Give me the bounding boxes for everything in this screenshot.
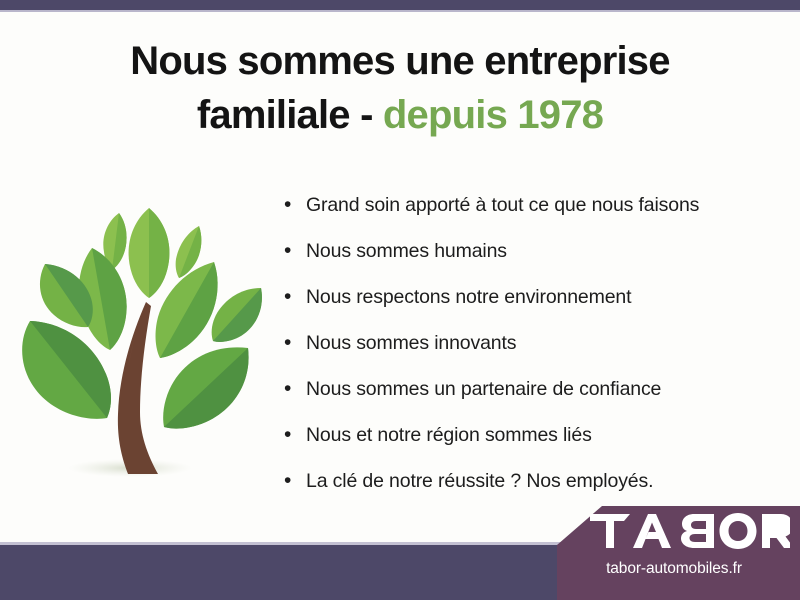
- bullet-icon: •: [284, 422, 306, 448]
- bullet-icon: •: [284, 192, 306, 218]
- leaf-top-center: [129, 208, 170, 298]
- bullet-icon: •: [284, 284, 306, 310]
- list-item-label: Nous sommes un partenaire de confiance: [306, 376, 661, 402]
- headline-line-2-plain: familiale -: [197, 93, 383, 137]
- bullet-icon: •: [284, 238, 306, 264]
- logo-panel-shape: [557, 506, 800, 600]
- list-item: • Nous sommes un partenaire de confiance: [284, 376, 784, 422]
- bullet-icon: •: [284, 376, 306, 402]
- list-item-label: Grand soin apporté à tout ce que nous fa…: [306, 192, 699, 218]
- leaf-lower-right-large: [163, 347, 248, 428]
- list-item-label: La clé de notre réussite ? Nos employés.: [306, 468, 653, 494]
- brand-logo-panel[interactable]: tabor-automobiles.fr: [548, 500, 800, 600]
- list-item-label: Nous et notre région sommes liés: [306, 422, 592, 448]
- top-accent-hairline: [0, 10, 800, 12]
- list-item-label: Nous sommes humains: [306, 238, 507, 264]
- headline-line-1: Nous sommes une entreprise: [130, 39, 669, 83]
- list-item: • Nous sommes humains: [284, 238, 784, 284]
- bullet-icon: •: [284, 468, 306, 494]
- list-item: • Nous et notre région sommes liés: [284, 422, 784, 468]
- headline-line-2-accent: depuis 1978: [383, 93, 603, 137]
- page-title: Nous sommes une entreprise familiale - d…: [40, 34, 760, 142]
- slide-canvas: Nous sommes une entreprise familiale - d…: [0, 0, 800, 600]
- top-accent-bar: [0, 0, 800, 10]
- list-item: • Nous respectons notre environnement: [284, 284, 784, 330]
- value-list: • Grand soin apporté à tout ce que nous …: [284, 192, 784, 514]
- list-item-label: Nous sommes innovants: [306, 330, 516, 356]
- tree-illustration: [18, 178, 282, 483]
- list-item: • Grand soin apporté à tout ce que nous …: [284, 192, 784, 238]
- bullet-icon: •: [284, 330, 306, 356]
- list-item-label: Nous respectons notre environnement: [306, 284, 631, 310]
- leaf-mid-far-right: [212, 288, 262, 342]
- list-item: • Nous sommes innovants: [284, 330, 784, 376]
- tree-trunk: [118, 302, 158, 474]
